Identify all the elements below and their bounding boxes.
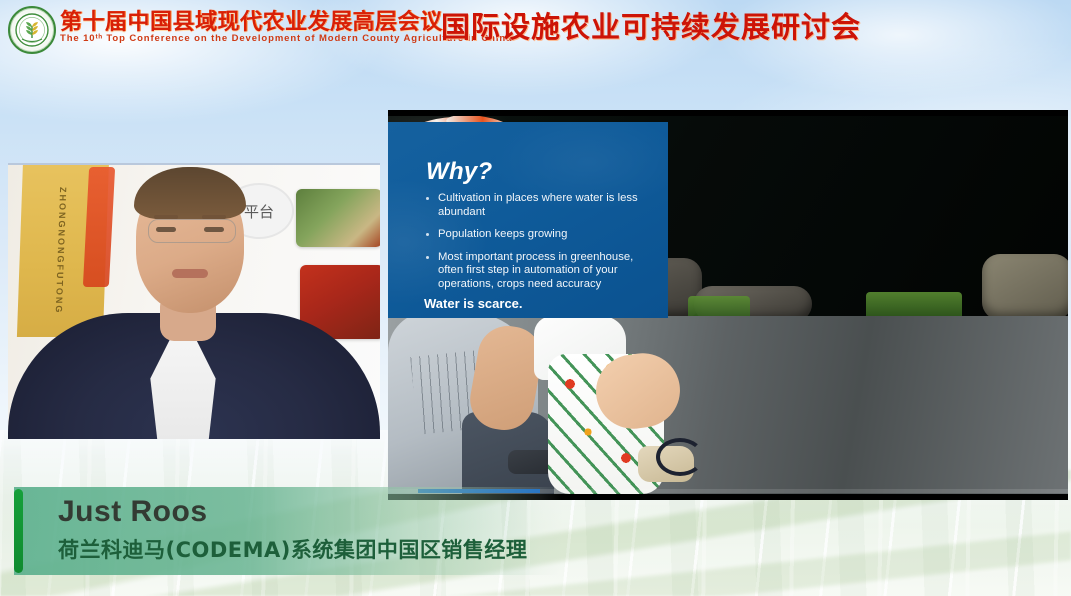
conference-header: 第十届中国县域现代农业发展高层会议 The 10ᵗʰ Top Conferenc… [0,0,1071,56]
webcam-banner-text: ZHONGNONGFUTONG [54,187,68,314]
speaker-mouth [172,269,208,278]
slide-bullet: Cultivation in places where water is les… [424,192,656,219]
session-title-cn: 国际设施农业可持续发展研讨会 [441,4,861,46]
slide-bullet: Most important process in greenhouse, of… [424,251,656,292]
lower-third-banner: Just Roos 荷兰科迪马(CODEMA)系统集团中国区销售经理 [14,487,562,575]
speaker-name: Just Roos [58,495,208,529]
slide-bullet: Population keeps growing [424,228,656,242]
screen-stage: 第十届中国县域现代农业发展高层会议 The 10ᵗʰ Top Conferenc… [0,0,1071,596]
slide-text-panel: Why? Cultivation in places where water i… [388,122,668,318]
speaker-video-tile[interactable]: ZHONGNONGFUTONG 平台 [8,163,380,439]
child-shoe-strap [656,438,704,476]
slide-bullet-list: Cultivation in places where water is les… [424,192,656,301]
webcam-poster-card-green [296,189,380,247]
pond-rock [982,254,1068,320]
slide-photo: Why? Cultivation in places where water i… [388,116,1068,494]
speaker-role: 荷兰科迪马(CODEMA)系统集团中国区销售经理 [58,534,527,564]
speaker-eye-left [156,227,176,232]
conference-title-cn: 第十届中国县域现代农业发展高层会议 [60,4,443,36]
lower-third-accent-bar [14,489,23,573]
pond-grass [866,292,962,318]
speaker-eye-right [204,227,224,232]
slide-footer-statement: Water is scarce. [424,296,523,311]
pond-grass [688,296,750,318]
shared-screen-panel[interactable]: Why? Cultivation in places where water i… [388,110,1068,500]
slide-heading: Why? [426,158,493,186]
wheat-emblem-icon [8,6,56,54]
